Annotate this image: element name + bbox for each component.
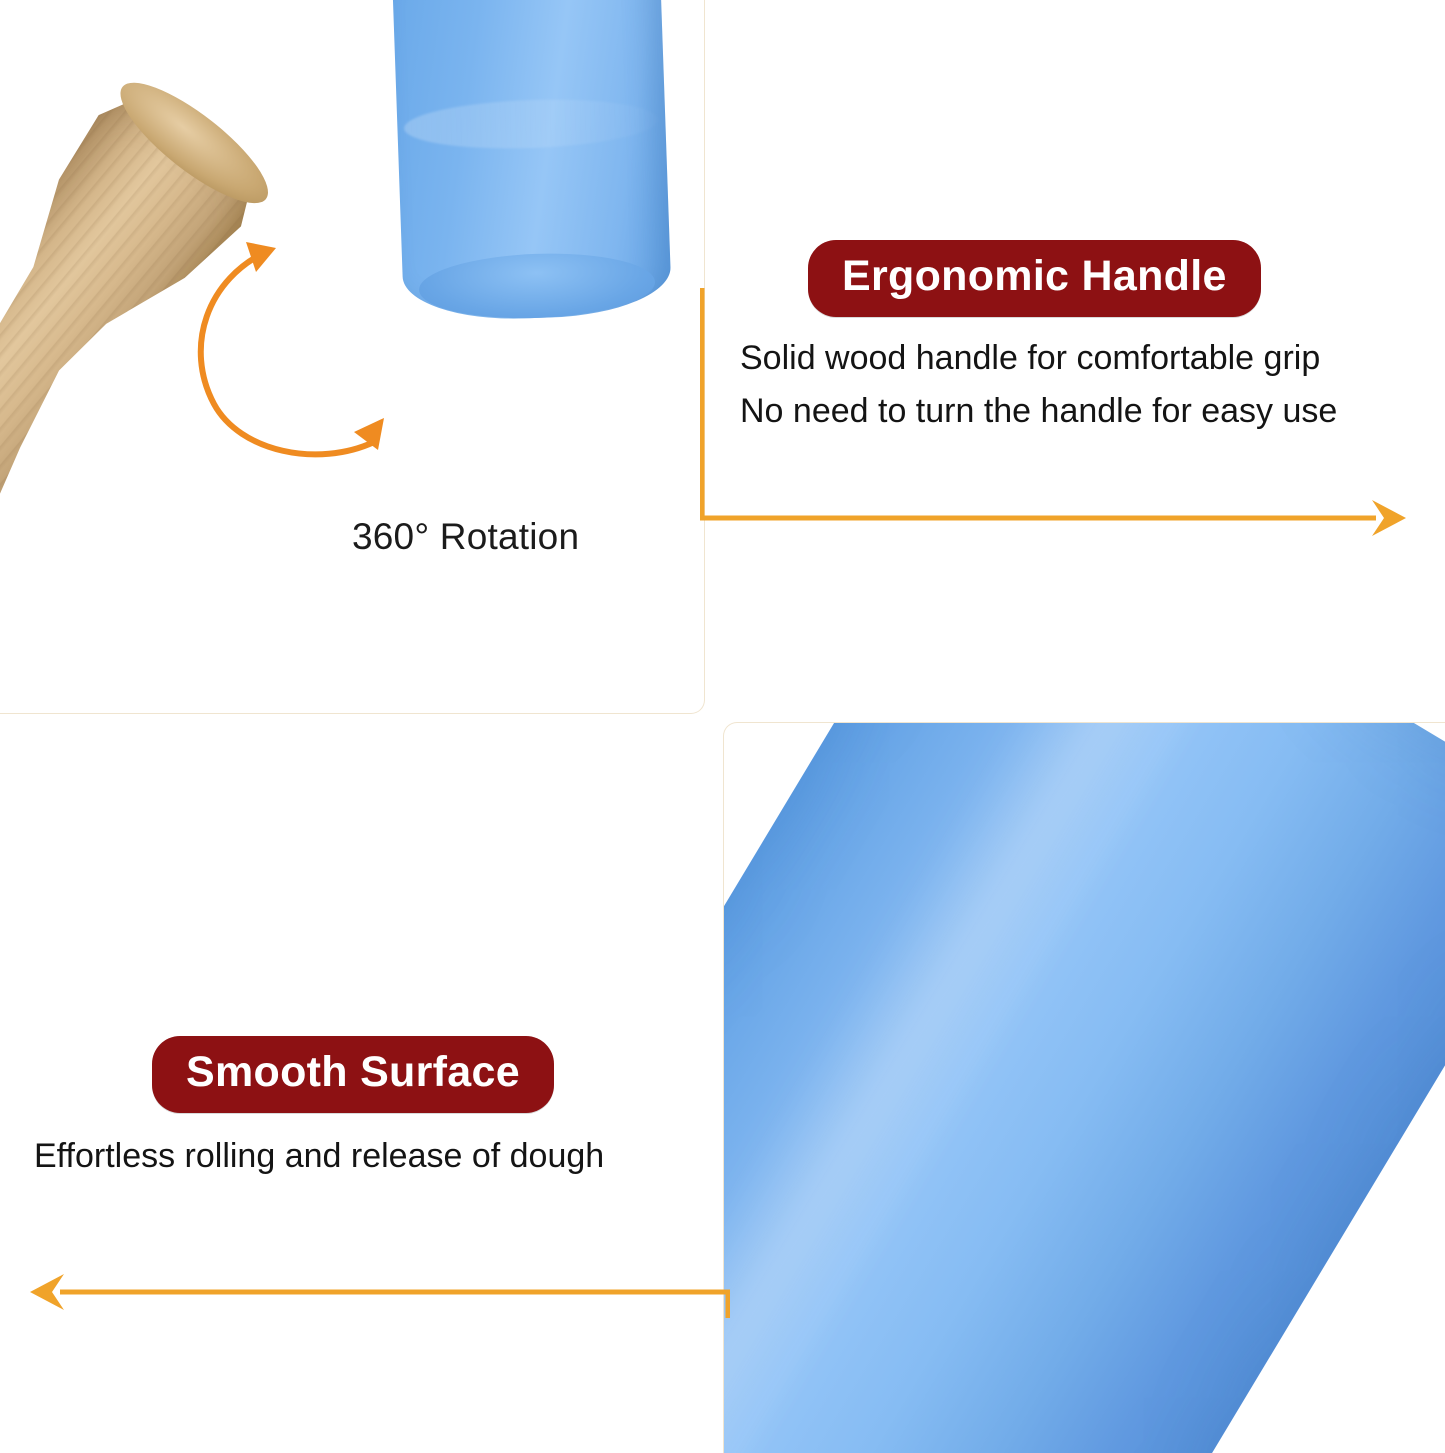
surface-highlight <box>723 722 1254 1453</box>
rotation-arrow-icon <box>178 236 433 468</box>
handle-closeup-panel: 360° Rotation <box>0 0 705 714</box>
surface-closeup-panel <box>723 722 1445 1453</box>
rotation-label: 360° Rotation <box>352 516 579 558</box>
silicone-surface-closeup <box>723 722 1445 1453</box>
connector-arrow-right-icon <box>700 286 1412 536</box>
silicone-roller-body <box>392 0 672 323</box>
connector-arrow-left-icon <box>30 1100 730 1320</box>
product-feature-image: 360° Rotation Ergonomic Handle Solid woo… <box>0 0 1445 1453</box>
